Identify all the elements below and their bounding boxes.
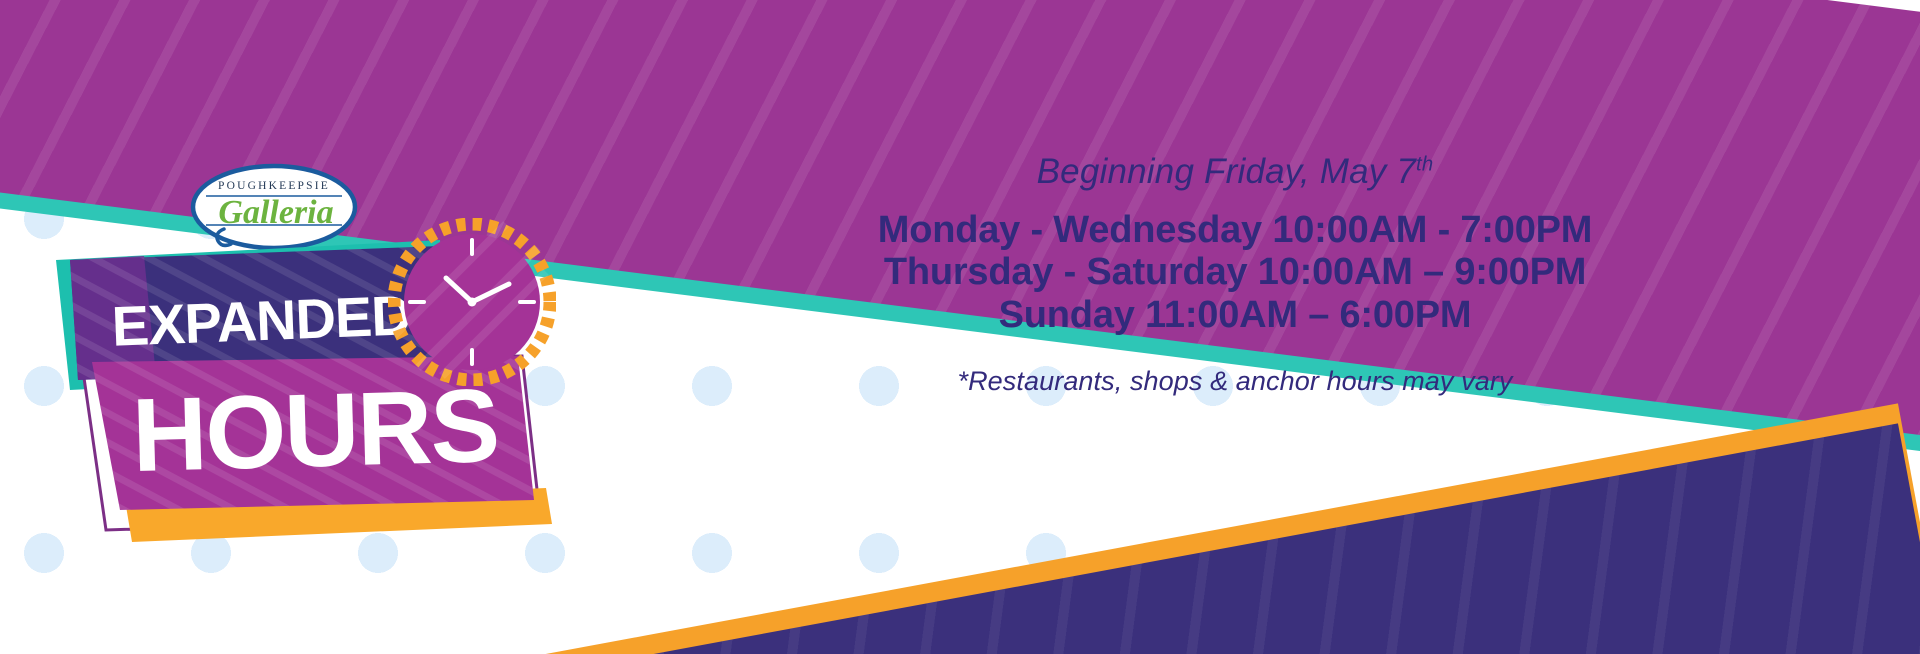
hours-footnote: *Restaurants, shops & anchor hours may v… [640, 366, 1830, 397]
analog-clock-icon [388, 218, 556, 386]
badge-line2-text: HOURS [131, 368, 500, 494]
headline-ordinal-suffix: th [1416, 153, 1433, 175]
clock-svg [388, 218, 556, 386]
logo-name-text: Galleria [218, 194, 333, 231]
headline-text: Beginning Friday, May 7 [1037, 152, 1416, 191]
hours-line-sunday: Sunday 11:00AM – 6:00PM [640, 294, 1830, 337]
hours-line-thu-sat: Thursday - Saturday 10:00AM – 9:00PM [640, 251, 1830, 294]
headline-beginning-date: Beginning Friday, May 7th [640, 150, 1830, 195]
hours-copy-block: Beginning Friday, May 7th Monday - Wedne… [640, 150, 1830, 397]
clock-center-dot [468, 298, 477, 307]
hours-line-mon-wed: Monday - Wednesday 10:00AM - 7:00PM [640, 209, 1830, 252]
logo-city-text: POUGHKEEPSIE [218, 180, 330, 192]
badge-line1-text: EXPANDED [111, 283, 412, 357]
expanded-hours-banner: POUGHKEEPSIE Galleria [0, 0, 1920, 654]
